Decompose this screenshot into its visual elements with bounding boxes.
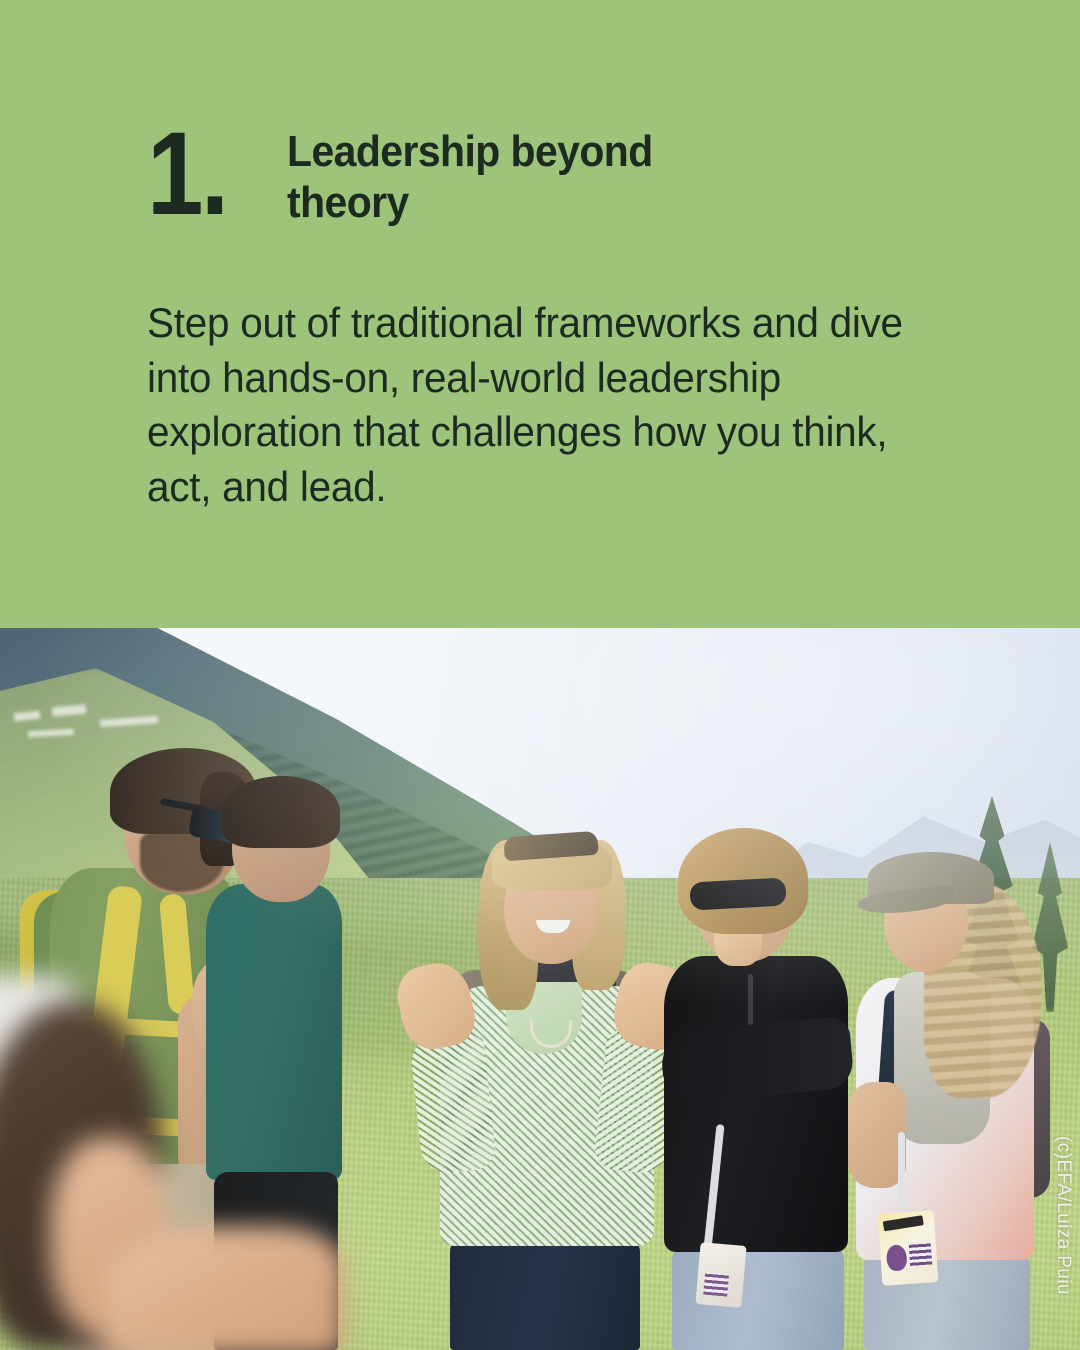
badge-header-bar [883, 1215, 924, 1231]
step-number: 1. [147, 126, 226, 223]
hair [222, 776, 340, 848]
sunglasses [689, 878, 786, 911]
person-man-black-sweater [656, 824, 866, 1350]
qr-code [909, 1242, 932, 1265]
photo-credit: (c)EFA/Luiza Puiu [1052, 1136, 1074, 1295]
teal-tshirt [206, 884, 342, 1180]
dark-jeans [450, 1234, 640, 1350]
black-sweater [664, 956, 848, 1252]
person-woman-green-blouse [394, 816, 694, 1350]
foreground-blurred-arm [104, 1226, 344, 1350]
village-buildings [8, 704, 198, 744]
conference-badge [695, 1242, 746, 1308]
social-slide-card: 1. Leadership beyond theory Step out of … [0, 0, 1080, 1350]
badge-logo [886, 1244, 908, 1271]
page-title: Leadership beyond theory [287, 126, 724, 228]
left-sleeve [409, 1029, 497, 1176]
photo-illustration: (c)EFA/Luiza Puiu [0, 628, 1080, 1350]
conference-badge [878, 1210, 939, 1286]
text-panel: 1. Leadership beyond theory Step out of … [0, 0, 1080, 628]
lanyard-cord [898, 1132, 905, 1220]
person-woman-cap [842, 832, 1062, 1350]
heading-row: 1. Leadership beyond theory [147, 126, 757, 228]
body-paragraph: Step out of traditional frameworks and d… [147, 296, 948, 514]
